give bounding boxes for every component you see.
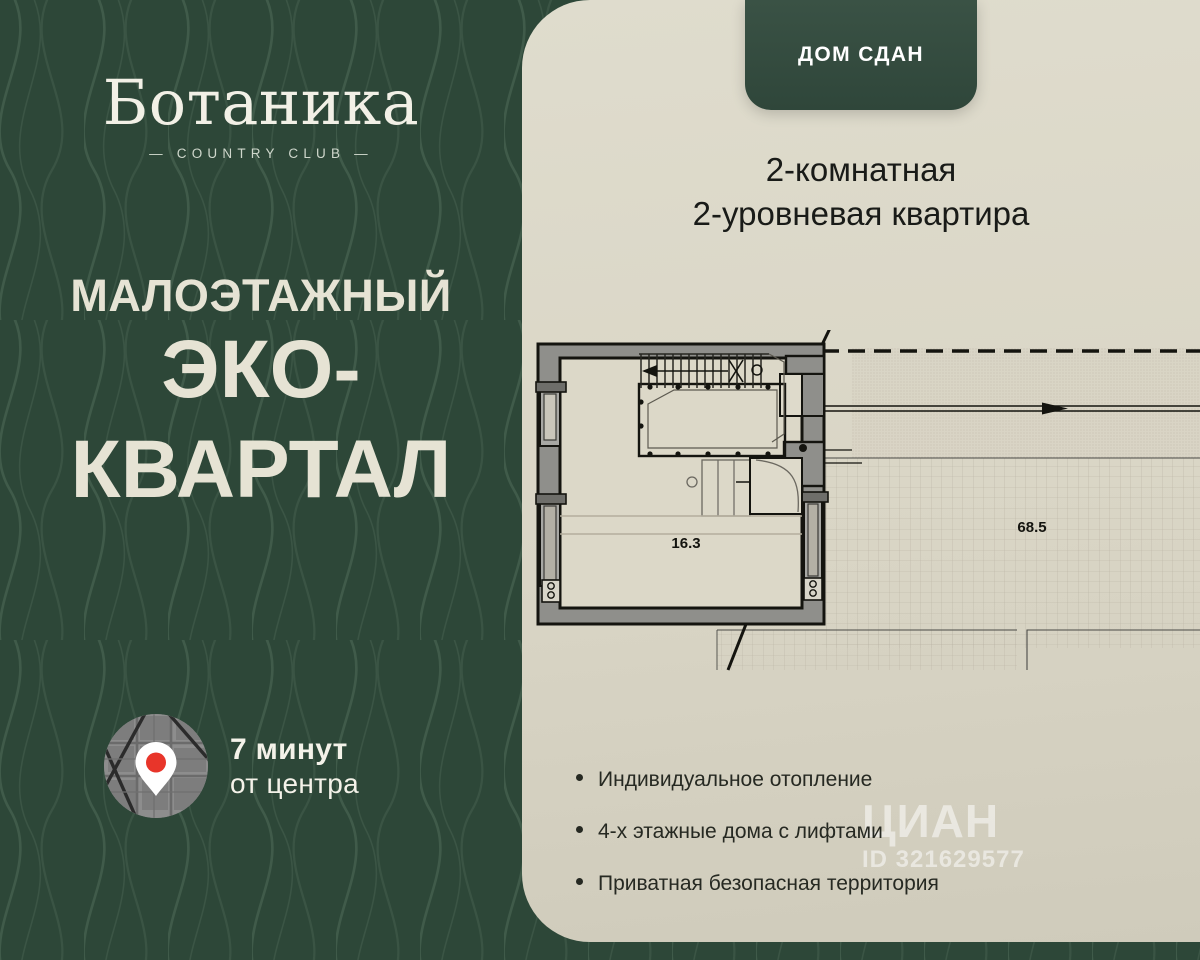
feature-text: Индивидуальное отопление — [598, 768, 872, 792]
location-chip-text: 7 минут от центра — [230, 732, 359, 800]
headline-line-1: МАЛОЭТАЖНЫЙ — [0, 272, 522, 320]
location-chip: 7 минут от центра — [104, 714, 359, 818]
left-brand-column: Ботаника — COUNTRY CLUB — МАЛОЭТАЖНЫЙ ЭК… — [0, 0, 522, 960]
list-item: 4-х этажные дома с лифтами — [576, 820, 939, 844]
bullet-icon — [576, 826, 583, 833]
map-pin-icon — [104, 714, 208, 818]
status-badge: ДОМ СДАН — [745, 0, 977, 110]
headline-line-2: ЭКО- — [0, 320, 522, 420]
feature-text: 4-х этажные дома с лифтами — [598, 820, 883, 844]
location-duration: 7 минут — [230, 732, 359, 767]
feature-list: Индивидуальное отопление 4-х этажные дом… — [576, 768, 939, 896]
bullet-icon — [576, 774, 583, 781]
list-item: Индивидуальное отопление — [576, 768, 939, 792]
status-badge-label: ДОМ СДАН — [798, 43, 924, 67]
feature-text: Приватная безопасная территория — [598, 872, 939, 896]
list-item: Приватная безопасная территория — [576, 872, 939, 896]
listing-title-line-2: 2-уровневая квартира — [522, 192, 1200, 236]
page-title: МАЛОЭТАЖНЫЙ ЭКО- КВАРТАЛ — [0, 272, 522, 520]
floorplan-room-area: 16.3 — [671, 535, 700, 552]
listing-title: 2-комнатная 2-уровневая квартира — [522, 148, 1200, 235]
headline-line-3: КВАРТАЛ — [0, 420, 522, 520]
brand-logo: Ботаника — COUNTRY CLUB — — [0, 72, 522, 161]
location-reference: от центра — [230, 767, 359, 800]
floorplan-terrace-area: 68.5 — [1017, 519, 1046, 536]
listing-title-line-1: 2-комнатная — [766, 151, 957, 188]
brand-logo-tagline: — COUNTRY CLUB — — [0, 146, 522, 161]
bullet-icon — [576, 878, 583, 885]
listing-panel: ДОМ СДАН 2-комнатная 2-уровневая квартир… — [522, 0, 1200, 942]
brand-logo-name: Ботаника — [0, 72, 522, 134]
promo-card: Ботаника — COUNTRY CLUB — МАЛОЭТАЖНЫЙ ЭК… — [0, 0, 1200, 960]
floor-plan-drawing: 16.3 68.5 — [522, 330, 1200, 680]
